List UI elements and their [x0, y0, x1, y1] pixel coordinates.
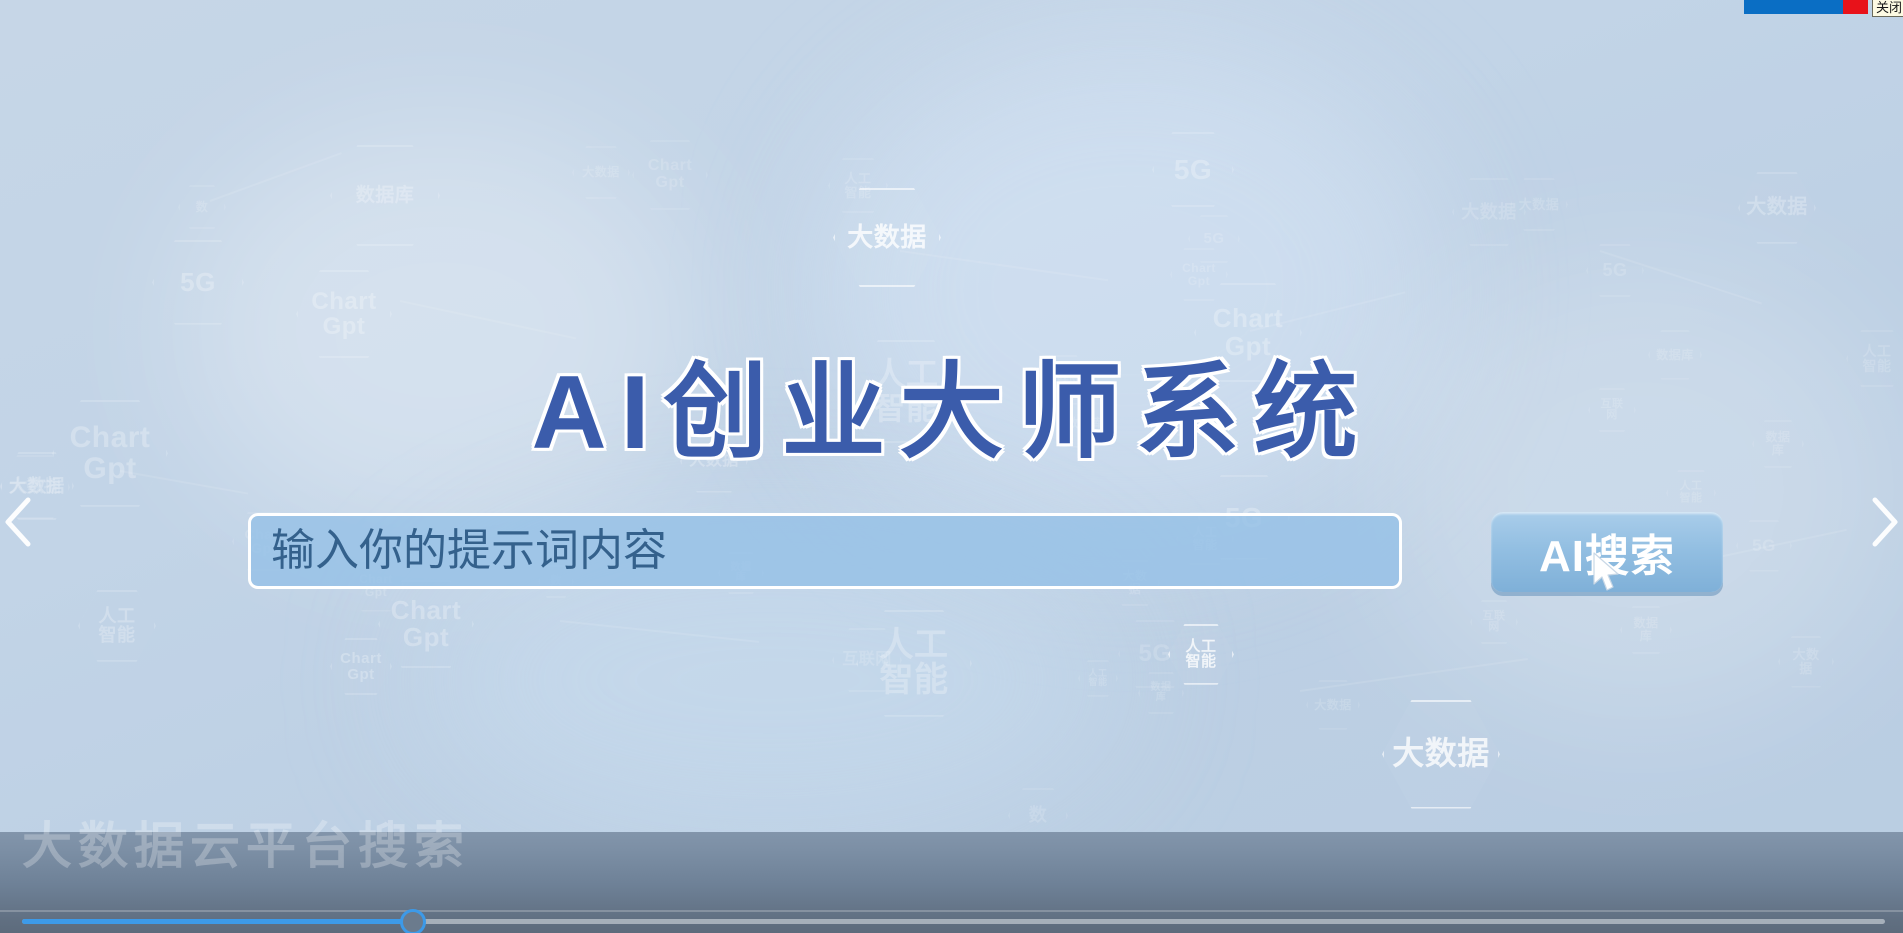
ai-search-button[interactable]: AI搜索 — [1491, 512, 1723, 592]
close-button-marker[interactable] — [1843, 0, 1868, 14]
hexagon-connector-line — [900, 250, 1108, 281]
hexagon-node-label: 大数据 — [1740, 197, 1814, 218]
hexagon-node-label: 人工智能 — [1179, 639, 1222, 671]
search-input[interactable] — [248, 513, 1402, 589]
hexagon-node-label: 数据库 — [1622, 617, 1670, 642]
hexagon-node: 大数据 — [1778, 636, 1834, 688]
hexagon-node-label: 大数据 — [576, 166, 626, 179]
hexagon-connector-line — [560, 620, 759, 643]
hexagon-node: 大数据 — [1738, 172, 1816, 244]
hexagon-node-label: 大数据 — [1513, 198, 1566, 212]
watermark-text: 大数据云平台搜索 — [22, 806, 470, 878]
hexagon-node-label: 大数据 — [1308, 699, 1358, 712]
hexagon-node: 5G — [152, 240, 244, 325]
hexagon-node: 人工智能 — [1078, 660, 1118, 697]
chevron-right-icon — [1863, 492, 1903, 552]
hexagon-node: ChartGpt — [632, 140, 708, 210]
hexagon-connector-line — [1300, 658, 1528, 692]
hexagon-connector-line — [210, 152, 342, 202]
hexagon-node-label: 互联网 — [1472, 611, 1516, 634]
slider-thumb[interactable] — [400, 909, 426, 933]
hexagon-node-label: 大数据 — [1780, 648, 1832, 675]
hexagon-node-label: 5G — [1168, 155, 1218, 184]
chevron-left-icon — [0, 492, 40, 552]
progress-slider[interactable] — [0, 910, 1903, 933]
page-title: AI创业大师系统 — [0, 327, 1903, 478]
hexagon-node-label: 大数据 — [841, 224, 933, 251]
hexagon-node: 数 — [178, 185, 226, 229]
hexagon-node-label: ChartGpt — [385, 597, 467, 652]
hexagon-node: 人工智能 — [78, 590, 156, 662]
hexagon-node: 大数据 — [572, 146, 630, 199]
hexagon-node: 大数据 — [1382, 700, 1500, 809]
hexagon-node-label: 5G — [1596, 261, 1633, 280]
hexagon-node: 5G — [1586, 244, 1644, 297]
hexagon-node-label: 人工智能 — [1082, 669, 1113, 688]
hexagon-node-label: 数 — [190, 201, 215, 214]
hexagon-node: 5G — [1152, 132, 1234, 207]
slider-fill — [22, 919, 413, 924]
hexagon-node-label: 数 — [1023, 806, 1054, 825]
carousel-next-button[interactable] — [1863, 492, 1903, 552]
hexagon-node-label: 数据库 — [1140, 683, 1182, 704]
hexagon-node-label: 人工智能 — [1674, 481, 1709, 504]
top-blue-indicator — [1744, 0, 1843, 14]
hexagon-node-label: 人工智能 — [93, 607, 142, 645]
app-stage: 数据库数5G大数据ChartGptChartGptChartGpt大数据人工智能… — [0, 0, 1903, 933]
hexagon-node-label: 5G — [174, 269, 222, 296]
hexagon-node: 数据库 — [330, 145, 440, 246]
hexagon-node-label: ChartGpt — [334, 651, 388, 683]
hexagon-node: 数据库 — [1620, 606, 1672, 654]
hexagon-node: ChartGpt — [330, 638, 392, 695]
hexagon-node-label: 大数据 — [1386, 737, 1496, 771]
hexagon-node: 互联网 — [1470, 600, 1518, 644]
hexagon-node-label: 人工智能 — [874, 628, 955, 699]
hexagon-node-label: 5G — [1197, 231, 1230, 247]
hexagon-node: 人工智能 — [856, 610, 972, 717]
carousel-prev-button[interactable] — [0, 492, 40, 552]
hexagon-node-label: 数据库 — [350, 186, 421, 206]
close-tooltip: 关闭 — [1872, 0, 1903, 17]
hexagon-node-label: ChartGpt — [1176, 262, 1222, 287]
hexagon-node-label: ChartGpt — [642, 158, 698, 192]
